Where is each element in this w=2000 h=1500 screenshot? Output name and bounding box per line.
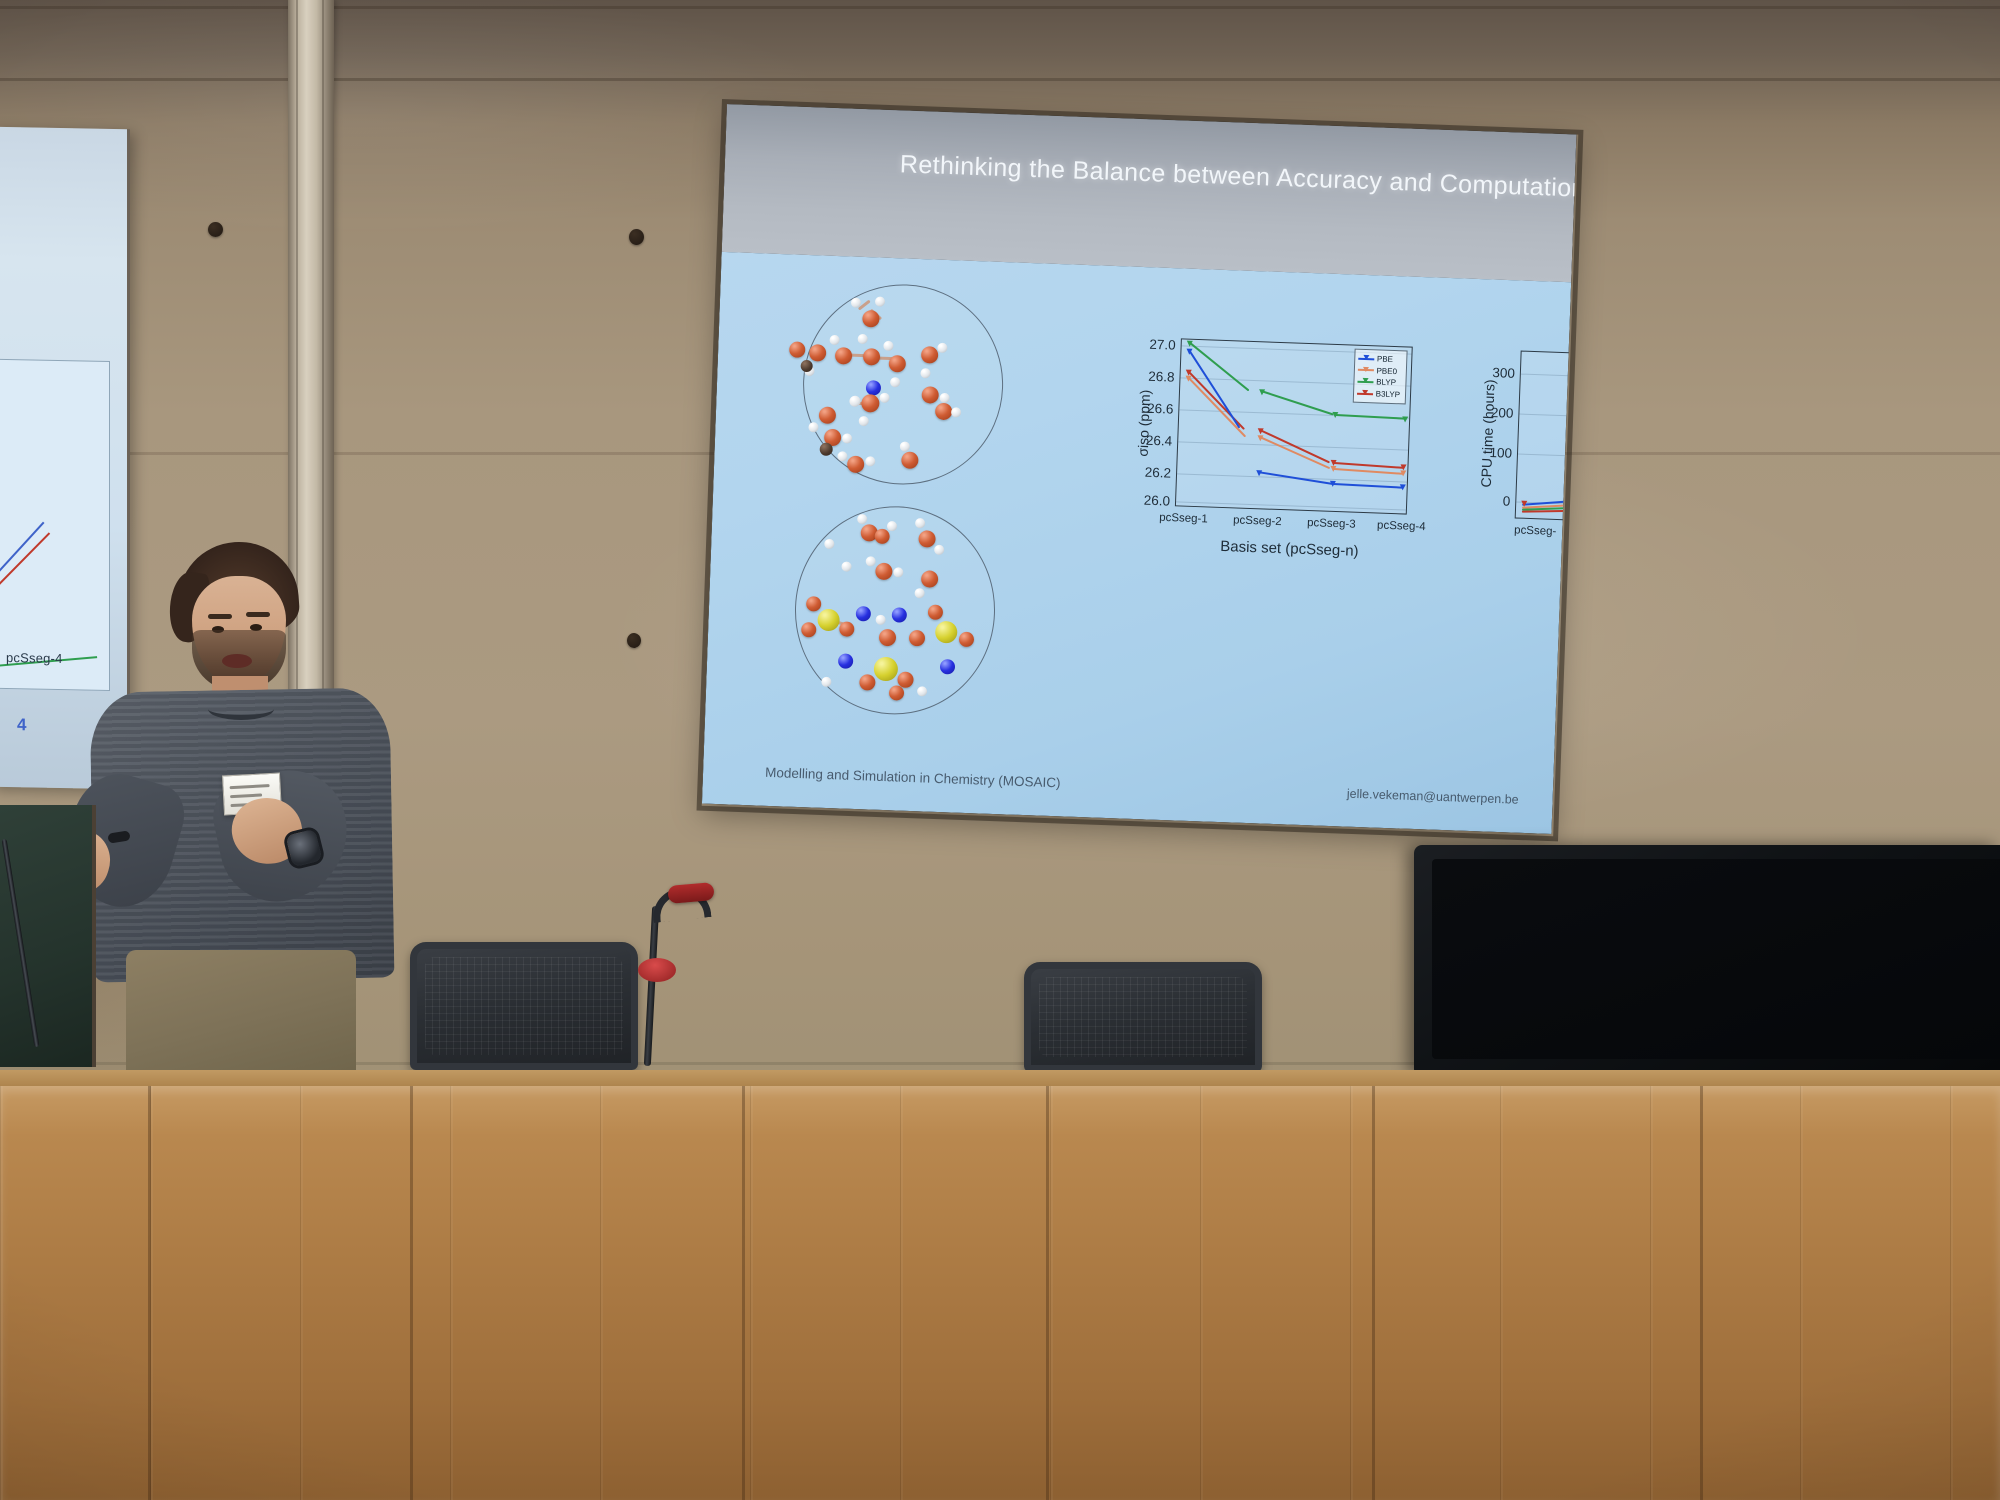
lectern-monitor <box>1414 845 2000 1075</box>
atom-oxygen <box>819 406 837 424</box>
eyebrow <box>246 612 270 617</box>
atom-hydrogen <box>866 556 876 566</box>
atom-nitrogen <box>866 380 882 396</box>
chair <box>1024 962 1262 1072</box>
datapoint-blyp <box>1332 412 1338 418</box>
chart1-xlabel: Basis set (pcSseg-n) <box>1220 538 1359 560</box>
atom-hydrogen <box>824 539 834 549</box>
legend-label: PBE <box>1377 353 1393 365</box>
eyebrow <box>208 614 232 619</box>
atom-carbon <box>819 443 832 456</box>
secondary-page-number: 4 <box>17 715 26 735</box>
chart-sigma-iso: 27.0 26.8 26.6 26.4 26.2 26.0 pcSseg-1 p… <box>1111 326 1439 567</box>
badge-text-line <box>230 784 270 789</box>
atom-oxygen <box>889 355 907 373</box>
chart1-xtick: pcSseg-2 <box>1233 514 1282 528</box>
atom-hydrogen <box>917 686 927 696</box>
atom-hydrogen <box>821 677 831 687</box>
formwork-tie-mark <box>627 633 641 648</box>
atom-hydrogen <box>875 296 885 306</box>
podium-plank-seam <box>410 1086 413 1500</box>
atom-nitrogen <box>940 659 956 675</box>
atom-hydrogen <box>837 451 847 461</box>
formwork-tie-mark <box>629 229 644 245</box>
datapoint-blyp <box>1187 341 1193 347</box>
chart1-ytick: 26.0 <box>1144 493 1171 509</box>
atom-hydrogen <box>890 377 900 387</box>
atom-hydrogen <box>829 335 839 345</box>
legend-label: B3LYP <box>1376 388 1401 400</box>
chart1-plot-area: 27.0 26.8 26.6 26.4 26.2 26.0 pcSseg-1 p… <box>1175 338 1413 514</box>
datapoint-cpu <box>1521 501 1527 507</box>
atom-oxygen <box>909 630 926 647</box>
atom-oxygen <box>861 394 880 413</box>
podium-plank-seam <box>148 1086 151 1500</box>
datapoint-blyp <box>1259 389 1265 395</box>
molecule-cluster-top <box>800 281 1007 488</box>
chart1-ytick: 27.0 <box>1149 337 1176 353</box>
atom-oxygen <box>879 629 897 647</box>
legend-label: BLYP <box>1376 377 1396 389</box>
datapoint-pbe0 <box>1330 466 1336 472</box>
podium-plank-seam <box>1700 1086 1703 1500</box>
slide-footer-affiliation: Modelling and Simulation in Chemistry (M… <box>765 765 1061 791</box>
atom-oxygen <box>789 341 806 358</box>
atom-hydrogen <box>875 615 885 625</box>
atom-hydrogen <box>879 393 889 403</box>
atom-oxygen <box>809 344 827 362</box>
datapoint-b3lyp <box>1258 428 1264 434</box>
wooden-podium <box>0 1070 2000 1500</box>
atom-oxygen <box>863 348 881 366</box>
microphone-base <box>638 958 676 982</box>
datapoint-pbe <box>1186 349 1192 355</box>
atom-oxygen <box>889 685 905 701</box>
trousers <box>126 950 356 1090</box>
atom-hydrogen <box>859 416 869 426</box>
atom-hydrogen <box>934 545 944 555</box>
atom-hydrogen <box>893 567 903 577</box>
datapoint-pbe <box>1256 470 1262 476</box>
chart2-ytick: 0 <box>1503 494 1511 509</box>
datapoint-blyp <box>1402 416 1408 422</box>
chart1-xtick: pcSseg-3 <box>1307 517 1356 531</box>
series-pbe0 <box>1333 468 1403 475</box>
atom-hydrogen <box>857 514 867 524</box>
atom-oxygen <box>901 451 919 469</box>
mouth <box>222 654 252 668</box>
atom-oxygen <box>935 403 953 421</box>
lecture-hall-photo: pcSseg-4 4 Rethinking the Balance betwee… <box>0 0 2000 1500</box>
datapoint-pbe <box>1400 484 1406 490</box>
atom-hydrogen <box>914 588 924 598</box>
atom-oxygen <box>918 530 936 548</box>
chart2-ylabel: CPU time (hours) <box>1477 363 1498 503</box>
chart2-xtick: pcSseg- <box>1514 524 1557 538</box>
atom-oxygen <box>921 570 939 588</box>
atom-hydrogen <box>939 393 949 403</box>
datapoint-pbe0 <box>1185 376 1191 382</box>
chair-mesh <box>1039 977 1247 1057</box>
atom-oxygen <box>839 621 855 637</box>
atom-hydrogen <box>808 422 818 432</box>
chart1-xtick: pcSseg-4 <box>1377 520 1426 534</box>
formwork-tie-mark <box>208 222 223 237</box>
atom-hydrogen <box>841 561 851 571</box>
atom-oxygen <box>928 605 944 621</box>
chair-backrest <box>1024 962 1262 1072</box>
atom-oxygen <box>875 563 893 581</box>
atom-hydrogen <box>915 518 925 528</box>
slide-body: 27.0 26.8 26.6 26.4 26.2 26.0 pcSseg-1 p… <box>702 252 1571 834</box>
atom-nitrogen <box>838 653 854 669</box>
atom-oxygen <box>835 347 853 365</box>
projection-screen: Rethinking the Balance between Accuracy … <box>702 104 1576 834</box>
slide-footer-email: jelle.vekeman@uantwerpen.be <box>1347 787 1519 807</box>
podium-plank-seam <box>742 1086 745 1500</box>
legend-label: PBE0 <box>1376 365 1397 377</box>
atom-oxygen <box>847 456 865 474</box>
atom-oxygen <box>959 632 975 648</box>
atom-sulfur <box>935 621 958 644</box>
atom-sulfur <box>873 657 898 682</box>
atom-hydrogen <box>865 456 875 466</box>
chair <box>410 942 638 1070</box>
chart1-ylabel: σiso (ppm) <box>1134 373 1154 474</box>
atom-oxygen <box>859 674 876 691</box>
series-blyp <box>1335 414 1405 420</box>
atom-hydrogen <box>900 441 910 451</box>
podium-plank-seam <box>1372 1086 1375 1500</box>
datapoint-pbe0 <box>1257 435 1263 441</box>
atom-hydrogen <box>849 396 860 407</box>
slide-title: Rethinking the Balance between Accuracy … <box>725 144 1575 203</box>
atom-oxygen <box>874 529 890 545</box>
atom-hydrogen <box>858 334 868 344</box>
atom-hydrogen <box>842 433 852 443</box>
atom-hydrogen <box>937 343 947 353</box>
atom-nitrogen <box>892 607 908 623</box>
badge-text-line <box>230 793 262 798</box>
monitor-screen <box>1432 859 2000 1059</box>
atom-hydrogen <box>883 341 893 351</box>
legend-item: B3LYP <box>1357 387 1401 400</box>
podium-plank-seam <box>1046 1086 1049 1500</box>
datapoint-pbe <box>1330 481 1336 487</box>
collar <box>208 698 274 720</box>
atom-oxygen <box>801 622 817 638</box>
molecule-cluster-bottom <box>791 503 998 718</box>
atom-sulfur <box>817 609 840 632</box>
atom-nitrogen <box>856 606 872 622</box>
chart-cpu-time: 300 200 100 0 pcSseg- P P B B <box>1451 338 1577 579</box>
atom-hydrogen <box>920 368 930 378</box>
chart1-xtick: pcSseg-1 <box>1159 512 1208 526</box>
series-pbe0 <box>1260 436 1330 469</box>
series-pbe0 <box>1188 377 1246 437</box>
chair-backrest <box>410 942 638 1070</box>
atom-oxygen <box>862 310 880 328</box>
atom-oxygen <box>921 386 939 404</box>
atom-oxygen <box>806 596 822 612</box>
atom-hydrogen <box>951 407 961 417</box>
chair-mesh <box>425 957 623 1055</box>
atom-oxygen <box>921 346 939 364</box>
atom-hydrogen <box>887 521 897 531</box>
chart1-legend: PBE PBE0 BLYP B3LYP <box>1352 349 1407 405</box>
blackboard <box>0 805 96 1067</box>
datapoint-pbe0 <box>1400 470 1406 476</box>
series-pbe <box>1333 483 1403 489</box>
